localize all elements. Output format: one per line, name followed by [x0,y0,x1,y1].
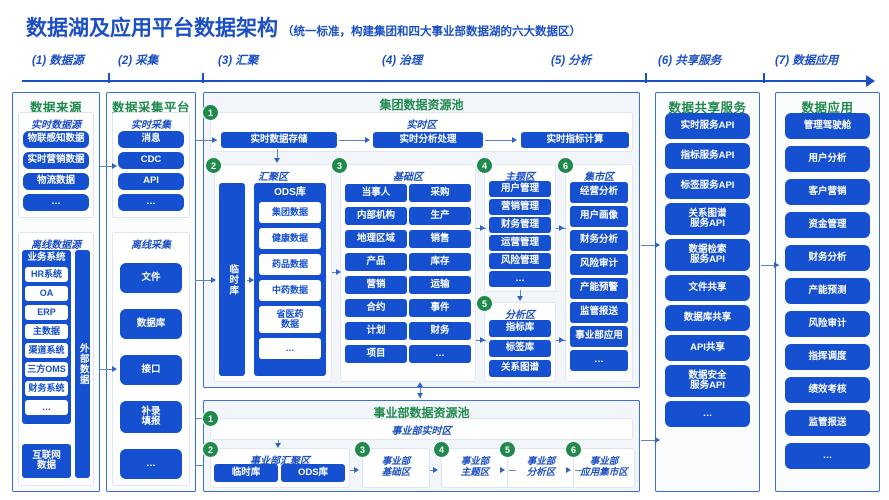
mart-item-user-profile[interactable]: 用户画像 [570,206,628,227]
mart-item-risk-audit[interactable]: 风险审计 [570,254,628,275]
mart-item-bu-app[interactable]: 事业部应用 [570,326,628,347]
zone-title-analysis: 分析区 [485,303,555,321]
share-item-graph-api[interactable]: 关系图谱 服务API [665,203,750,235]
share-item-search-api[interactable]: 数据检索 服务API [665,239,750,271]
share-item-realtime-api[interactable]: 实时服务API [665,113,750,139]
ods-item-more[interactable]: … [259,338,321,359]
biz-system-finance[interactable]: 财务系统 [25,381,68,396]
subject-item-finance-mgmt[interactable]: 财务管理 [489,217,551,233]
share-item-file-share[interactable]: 文件共享 [665,275,750,301]
share-item-security-api[interactable]: 数据安全 服务API [665,365,750,397]
collect-item-file[interactable]: 文件 [120,263,182,293]
share-item-more[interactable]: … [665,401,750,427]
title-row: 数据湖及应用平台数据架构（统一标准，构建集团和四大事业部数据湖的六大数据区） [26,12,581,42]
stage-label-6: (6) 共享服务 [658,52,721,68]
collect-item-cdc[interactable]: CDC [118,152,184,169]
arrow-icon [274,158,280,163]
app-item-customer-marketing[interactable]: 客户营销 [785,179,870,205]
arrow-icon [211,277,216,283]
zone-bu-realtime: 事业部实时区 [210,418,633,440]
arrow-icon [417,382,423,387]
app-item-more[interactable]: … [785,443,870,469]
realtime-item-analysis[interactable]: 实时分析处理 [373,132,483,148]
subpanel-title-realtime-source: 实时数据源 [19,113,93,131]
converge-temp-db-label: 临时库 [227,264,237,296]
stage-label-1: (1) 数据源 [32,52,84,68]
subject-item-user-mgmt[interactable]: 用户管理 [489,181,551,197]
arrow-icon [249,277,254,283]
collect-item-message[interactable]: 消息 [118,131,184,148]
base-item-event[interactable]: 事件 [409,299,471,317]
subpanel-title-offline-source: 离线数据源 [19,233,93,251]
analysis-item-metric-lib[interactable]: 指标库 [489,320,551,337]
collect-item-database[interactable]: 数据库 [120,309,182,339]
base-item-marketing[interactable]: 营销 [345,276,407,294]
biz-system-master-data[interactable]: 主数据 [25,324,68,339]
zone-title-bu-realtime: 事业部实时区 [211,419,632,437]
base-item-plan[interactable]: 计划 [345,322,407,340]
page-subtitle: （统一标准，构建集团和四大事业部数据湖的六大数据区） [282,23,581,39]
app-item-command-dispatch[interactable]: 指挥调度 [785,344,870,370]
collect-item-interface[interactable]: 接口 [120,355,182,385]
app-item-user-analysis[interactable]: 用户分析 [785,146,870,172]
arrow-icon [559,225,564,231]
base-item-party[interactable]: 当事人 [345,184,407,202]
base-item-production[interactable]: 生产 [409,207,471,225]
axis-tick [108,73,110,83]
base-item-purchase[interactable]: 采购 [409,184,471,202]
arrow-icon [655,437,660,443]
bu-stage-analysis[interactable]: 事业部 分析区 [507,448,575,488]
stage-label-2: (2) 采集 [118,52,158,68]
app-item-dashboard[interactable]: 管理驾驶舱 [785,113,870,139]
base-item-internal-org[interactable]: 内部机构 [345,207,407,225]
step-badge-bu-5: 5 [500,442,515,457]
biz-system-channel[interactable]: 渠道系统 [25,343,68,358]
arrow-icon [566,467,571,473]
mart-item-regulatory-report[interactable]: 监管报送 [570,302,628,323]
biz-system-erp[interactable]: ERP [25,305,68,320]
app-item-fund-mgmt[interactable]: 资金管理 [785,212,870,238]
step-badge-3: 3 [332,158,347,173]
zone-title-mart: 集市区 [566,165,632,183]
arrow-icon [480,337,485,343]
app-item-performance[interactable]: 绩效考核 [785,377,870,403]
share-item-db-share[interactable]: 数据库共享 [665,305,750,331]
collect-item-more[interactable]: … [118,194,184,211]
axis-tick [763,73,765,83]
app-item-risk-audit[interactable]: 风险审计 [785,311,870,337]
mart-item-finance-analysis[interactable]: 财务分析 [570,230,628,251]
subject-item-ops-mgmt[interactable]: 运营管理 [489,235,551,251]
ods-item-provincial-data[interactable]: 省医药 数据 [259,306,321,333]
base-item-transport[interactable]: 运输 [409,276,471,294]
app-item-finance-analysis[interactable]: 财务分析 [785,245,870,271]
connector [575,470,582,471]
step-badge-bu-2: 2 [203,442,218,457]
base-item-product[interactable]: 产品 [345,253,407,271]
arrow-icon [517,296,523,301]
base-item-inventory[interactable]: 库存 [409,253,471,271]
base-item-geo[interactable]: 地理区域 [345,230,407,248]
arrow-icon [212,137,217,143]
arrow-icon [417,393,423,398]
base-item-finance[interactable]: 财务 [409,322,471,340]
converge-ods-title: ODS库 [254,185,326,199]
biz-system-oms[interactable]: 三方OMS [25,362,68,377]
business-systems-title: 业务系统 [22,252,71,265]
bu-stage-subject[interactable]: 事业部 主题区 [441,448,509,488]
subject-item-marketing-mgmt[interactable]: 营销管理 [489,199,551,215]
connector [485,140,513,141]
arrow-icon [774,262,779,268]
bu-stage-mart[interactable]: 事业部 应用集市区 [573,448,635,488]
connector [509,470,516,471]
source-item-iot[interactable]: 物联感知数据 [23,131,89,148]
zone-title-realtime: 实时区 [211,113,632,131]
mart-item-more[interactable]: … [570,350,628,371]
collect-item-more[interactable]: … [120,449,182,479]
step-badge-2: 2 [206,158,221,173]
step-badge-5: 5 [477,296,492,311]
step-badge-6: 6 [558,158,573,173]
arrow-icon [112,366,117,372]
step-badge-bu-4: 4 [434,442,449,457]
bu-converge-temp-db[interactable]: 临时库 [214,464,278,482]
axis-line [22,80,867,82]
mart-item-capacity-alert[interactable]: 产能预警 [570,278,628,299]
converge-temp-db[interactable]: 临时库 [219,183,245,376]
stage-label-5: (5) 分析 [551,52,591,68]
collect-item-supplement[interactable]: 补录 填报 [120,401,182,433]
analysis-item-tag-lib[interactable]: 标签库 [489,340,551,357]
source-item-logistics[interactable]: 物流数据 [23,173,89,190]
step-badge-4: 4 [477,158,492,173]
ods-item-drug-data[interactable]: 药品数据 [259,254,321,275]
step-badge-bu-1: 1 [203,411,218,426]
source-item-external-label: 外部数据 [77,343,87,385]
arrow-icon [480,225,485,231]
source-item-external[interactable]: 外部数据 [75,250,90,478]
arrow-icon [354,467,359,473]
stage-axis: (1) 数据源 (2) 采集 (3) 汇聚 (4) 治理 (5) 分析 (6) … [0,52,889,86]
share-item-api-share[interactable]: API共享 [665,335,750,361]
zone-title-base: 基础区 [341,165,475,183]
base-item-more[interactable]: … [409,345,471,363]
biz-system-more[interactable]: … [25,400,68,415]
source-item-internet[interactable]: 互联网 数据 [22,444,71,478]
bu-stage-base[interactable]: 事业部 基础区 [362,448,430,488]
share-item-metric-api[interactable]: 指标服务API [665,143,750,169]
stage-label-7: (7) 数据应用 [775,52,838,68]
biz-system-oa[interactable]: OA [25,286,68,301]
ods-item-group-data[interactable]: 集团数据 [259,202,321,223]
bu-converge-ods[interactable]: ODS库 [281,464,345,482]
base-item-contract[interactable]: 合约 [345,299,407,317]
arrow-icon [336,269,341,275]
base-item-sales[interactable]: 销售 [409,230,471,248]
subpanel-title-offline-collect: 离线采集 [113,233,189,251]
collect-item-api[interactable]: API [118,173,184,190]
connector [339,140,367,141]
arrow-icon [275,443,281,448]
subject-item-more[interactable]: … [489,271,551,287]
source-item-realtime-marketing[interactable]: 实时营销数据 [23,152,89,169]
realtime-item-metrics[interactable]: 实时指标计算 [521,132,629,148]
arrow-icon [365,137,370,143]
base-item-project[interactable]: 项目 [345,345,407,363]
app-item-capacity-forecast[interactable]: 产能预测 [785,278,870,304]
axis-tick [645,73,647,83]
step-badge-1: 1 [203,105,218,120]
realtime-item-storage[interactable]: 实时数据存储 [221,132,337,148]
arrow-icon [512,137,517,143]
axis-tick [202,73,204,83]
subpanel-title-realtime-collect: 实时采集 [113,113,189,131]
analysis-item-knowledge-graph[interactable]: 关系图谱 [489,360,551,377]
arrow-icon [433,467,438,473]
biz-system-hr[interactable]: HR系统 [25,267,68,282]
step-badge-bu-6: 6 [566,442,581,457]
page-title: 数据湖及应用平台数据架构 [26,12,278,42]
step-badge-bu-3: 3 [355,442,370,457]
arrow-icon [655,242,660,248]
arrow-icon [112,163,117,169]
ods-item-tcm-data[interactable]: 中药数据 [259,280,321,301]
ods-item-health-data[interactable]: 健康数据 [259,228,321,249]
source-item-more[interactable]: … [23,194,89,211]
app-item-regulatory-report[interactable]: 监管报送 [785,410,870,436]
stage-label-4: (4) 治理 [382,52,422,68]
zone-title-converge: 汇聚区 [215,165,331,183]
axis-arrow-icon [866,75,875,87]
arrow-icon [500,467,505,473]
pool-title-group: 集团数据资源池 [204,93,639,113]
page-header: 数据湖及应用平台数据架构（统一标准，构建集团和四大事业部数据湖的六大数据区） (… [0,0,889,88]
subject-item-risk-mgmt[interactable]: 风险管理 [489,253,551,269]
mart-item-business-analysis[interactable]: 经营分析 [570,182,628,203]
stage-label-3: (3) 汇聚 [218,52,258,68]
share-item-tag-api[interactable]: 标签服务API [665,173,750,199]
arrow-icon [559,337,564,343]
